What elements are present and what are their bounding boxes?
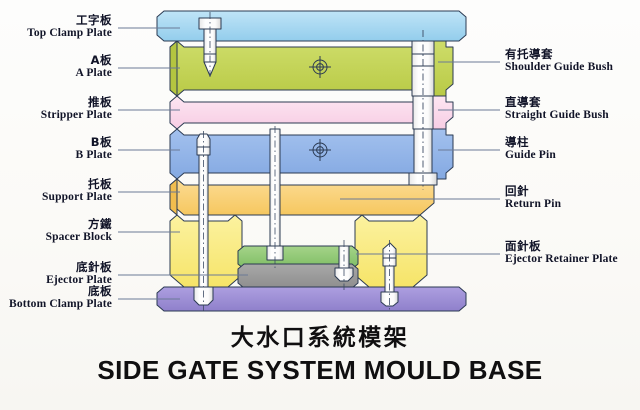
label-return-pin: 回針 Return Pin bbox=[505, 185, 561, 210]
label-shoulder-guide-bush-en: Shoulder Guide Bush bbox=[505, 61, 613, 73]
label-bottom-clamp-plate-en: Bottom Clamp Plate bbox=[0, 298, 112, 310]
label-top-clamp-plate-cn: 工字板 bbox=[0, 14, 112, 26]
label-ejector-retainer-plate-en: Ejector Retainer Plate bbox=[505, 253, 618, 265]
label-ejector-retainer-plate: 面針板 Ejector Retainer Plate bbox=[505, 240, 618, 265]
label-spacer-block: 方鐵 Spacer Block bbox=[0, 218, 118, 243]
label-stripper-plate: 推板 Stripper Plate bbox=[0, 96, 118, 121]
label-bottom-clamp-plate: 底板 Bottom Clamp Plate bbox=[0, 285, 118, 310]
label-top-clamp-plate-en: Top Clamp Plate bbox=[0, 27, 112, 39]
label-top-clamp-plate: 工字板 Top Clamp Plate bbox=[0, 14, 118, 39]
label-a-plate: A板 A Plate bbox=[0, 54, 118, 79]
label-return-pin-en: Return Pin bbox=[505, 198, 561, 210]
label-spacer-block-en: Spacer Block bbox=[0, 231, 112, 243]
diagram-title-en: SIDE GATE SYSTEM MOULD BASE bbox=[0, 355, 640, 386]
label-straight-guide-bush-cn: 直導套 bbox=[505, 96, 609, 108]
label-straight-guide-bush: 直導套 Straight Guide Bush bbox=[505, 96, 609, 121]
label-ejector-plate-cn: 底針板 bbox=[0, 261, 112, 273]
label-ejector-retainer-plate-cn: 面針板 bbox=[505, 240, 618, 252]
diagram-root: 工字板 Top Clamp Plate A板 A Plate 推板 Stripp… bbox=[0, 0, 640, 410]
label-guide-pin-en: Guide Pin bbox=[505, 149, 556, 161]
label-straight-guide-bush-en: Straight Guide Bush bbox=[505, 109, 609, 121]
label-a-plate-cn: A板 bbox=[0, 54, 112, 66]
label-stripper-plate-en: Stripper Plate bbox=[0, 109, 112, 121]
label-a-plate-en: A Plate bbox=[0, 67, 112, 79]
label-return-pin-cn: 回針 bbox=[505, 185, 561, 197]
label-spacer-block-cn: 方鐵 bbox=[0, 218, 112, 230]
label-ejector-plate: 底針板 Ejector Plate bbox=[0, 261, 118, 286]
plate-stripper bbox=[170, 96, 453, 129]
label-guide-pin: 導柱 Guide Pin bbox=[505, 136, 556, 161]
plate-support bbox=[170, 179, 434, 215]
label-bottom-clamp-plate-cn: 底板 bbox=[0, 285, 112, 297]
label-support-plate-en: Support Plate bbox=[0, 191, 112, 203]
label-shoulder-guide-bush-cn: 有托導套 bbox=[505, 48, 613, 60]
label-support-plate: 托板 Support Plate bbox=[0, 178, 118, 203]
diagram-title: 大水口系統模架 SIDE GATE SYSTEM MOULD BASE bbox=[0, 318, 640, 386]
label-b-plate-en: B Plate bbox=[0, 149, 112, 161]
label-stripper-plate-cn: 推板 bbox=[0, 96, 112, 108]
label-b-plate: B板 B Plate bbox=[0, 136, 118, 161]
diagram-title-cn: 大水口系統模架 bbox=[0, 318, 640, 352]
plate-b bbox=[170, 129, 453, 179]
label-b-plate-cn: B板 bbox=[0, 136, 112, 148]
label-support-plate-cn: 托板 bbox=[0, 178, 112, 190]
label-shoulder-guide-bush: 有托導套 Shoulder Guide Bush bbox=[505, 48, 613, 73]
label-guide-pin-cn: 導柱 bbox=[505, 136, 556, 148]
